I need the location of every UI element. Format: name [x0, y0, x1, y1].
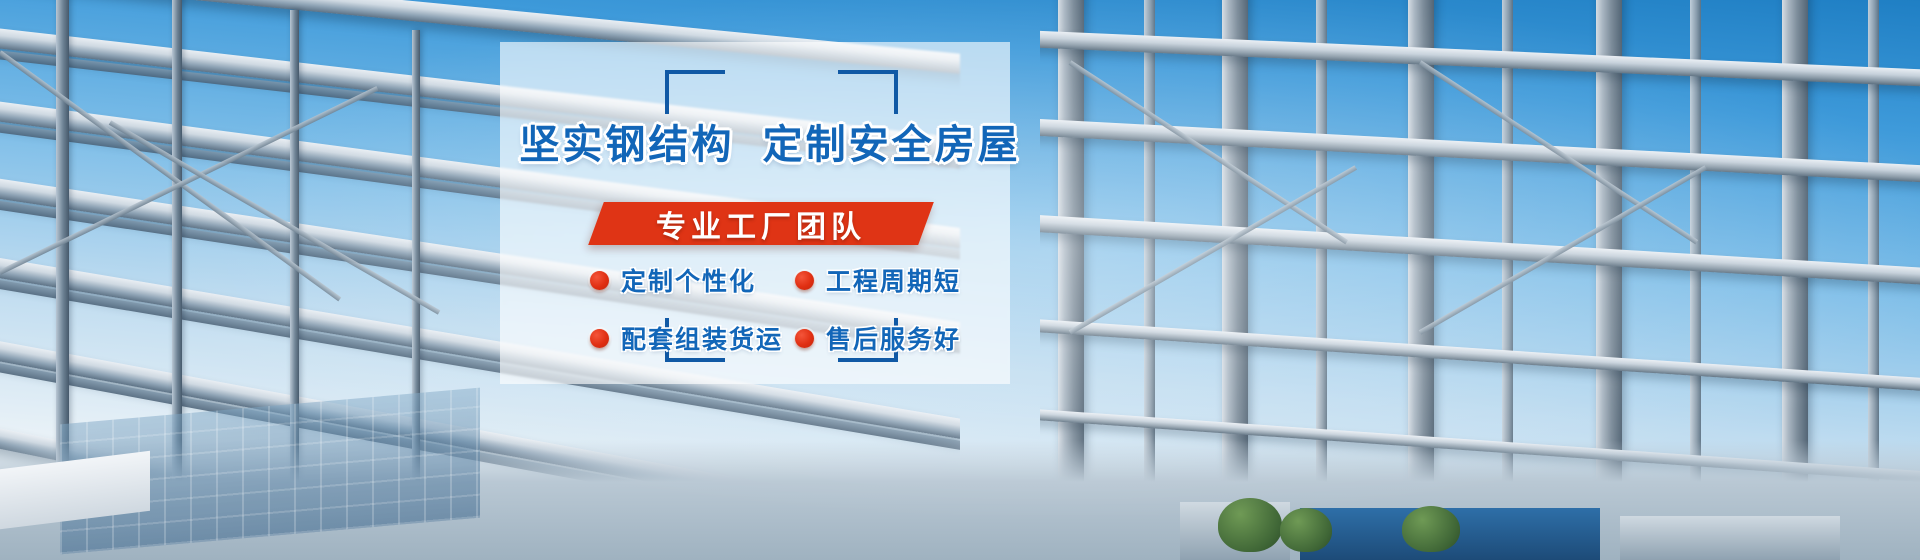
feature-label: 售后服务好 — [826, 320, 961, 356]
red-dot-icon — [590, 271, 609, 290]
feature-list: 定制个性化 工程周期短 配套组装货运 售后服务好 — [590, 262, 1010, 356]
ribbon-label: 专业工厂团队 — [596, 202, 926, 245]
bracket-corner-top-right — [838, 70, 898, 114]
hero-banner: 坚实钢结构 定制安全房屋 专业工厂团队 定制个性化 工程周期短 配套组装货运 售… — [0, 0, 1920, 560]
feature-item-3: 配套组装货运 — [590, 320, 795, 356]
feature-item-2: 工程周期短 — [795, 262, 1000, 298]
feature-label: 工程周期短 — [826, 262, 961, 298]
feature-label: 配套组装货运 — [621, 320, 783, 356]
feature-item-4: 售后服务好 — [795, 320, 1000, 356]
red-dot-icon — [590, 329, 609, 348]
feature-item-1: 定制个性化 — [590, 262, 795, 298]
red-dot-icon — [795, 329, 814, 348]
red-dot-icon — [795, 271, 814, 290]
headline-text: 坚实钢结构 定制安全房屋 — [500, 122, 1040, 168]
feature-label: 定制个性化 — [621, 262, 756, 298]
bracket-corner-top-left — [665, 70, 725, 114]
